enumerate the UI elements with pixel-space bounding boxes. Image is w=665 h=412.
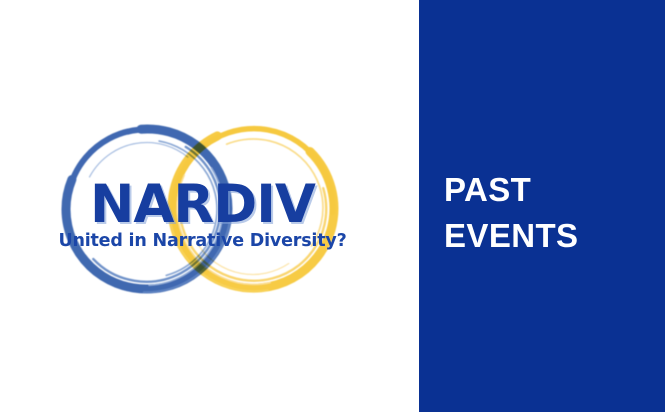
title-panel: PAST EVENTS [419, 0, 665, 412]
nardiv-logo [50, 112, 350, 307]
logo-panel: NARDIV United in Narrative Diversity? [0, 0, 419, 412]
page-title: PAST EVENTS [444, 167, 649, 259]
past-events-banner: NARDIV United in Narrative Diversity? PA… [0, 0, 665, 412]
page-title-line-1: PAST [444, 167, 649, 213]
page-title-line-2: EVENTS [444, 213, 649, 259]
